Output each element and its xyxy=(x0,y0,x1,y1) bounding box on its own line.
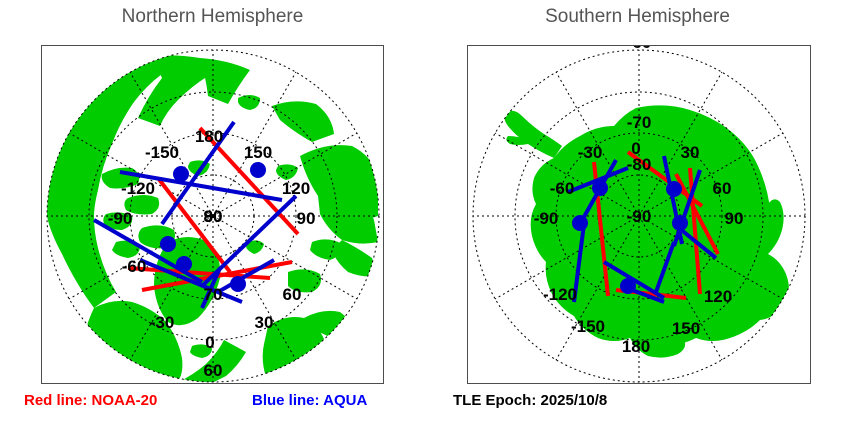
lon-label-150: 150 xyxy=(244,143,272,162)
lon-label-minus150: -150 xyxy=(145,143,179,162)
southern-hemisphere-plot: -60 -70 -80 -90 0 30 60 90 120 150 180 -… xyxy=(467,45,811,384)
satellite-marker xyxy=(572,215,588,231)
lon-label-150: 150 xyxy=(672,319,700,338)
lon-label-minus120: -120 xyxy=(121,179,155,198)
lon-label-120: 120 xyxy=(282,179,310,198)
lat-label-minus90: -90 xyxy=(627,207,652,226)
tle-epoch-label: TLE Epoch: 2025/10/8 xyxy=(453,392,607,409)
northern-hemisphere-title: Northern Hemisphere xyxy=(0,6,425,28)
lon-label-minus60: -60 xyxy=(550,179,575,198)
satellite-marker xyxy=(250,162,266,178)
northern-hemisphere-plot: 180 -150 -120 -90 -60 -30 0 30 60 90 120… xyxy=(41,45,384,384)
lon-label-minus120: -120 xyxy=(543,285,577,304)
satellite-marker xyxy=(666,181,682,197)
lon-label-180: 180 xyxy=(622,337,650,356)
panel-southern-hemisphere: Southern Hemisphere xyxy=(425,0,850,425)
lon-label-minus150: -150 xyxy=(571,317,605,336)
satellite-track-figure: Northern Hemisphere xyxy=(0,0,850,425)
satellite-marker xyxy=(672,215,688,231)
lat-label-80: 80 xyxy=(204,207,223,226)
satellite-marker xyxy=(620,278,636,294)
lat-label-minus60: -60 xyxy=(627,46,652,52)
lon-label-minus60: -60 xyxy=(122,257,147,276)
lon-label-minus90: -90 xyxy=(534,209,559,228)
lon-label-60: 60 xyxy=(713,179,732,198)
lon-label-30: 30 xyxy=(255,313,274,332)
lon-label-90: 90 xyxy=(297,209,316,228)
lat-label-60: 60 xyxy=(204,361,223,380)
lon-label-90: 90 xyxy=(725,209,744,228)
satellite-marker xyxy=(160,236,176,252)
southern-hemisphere-svg: -60 -70 -80 -90 0 30 60 90 120 150 180 -… xyxy=(468,46,810,383)
legend-noaa20: Red line: NOAA-20 xyxy=(24,392,157,409)
lon-label-0: 0 xyxy=(631,139,640,158)
lat-label-70: 70 xyxy=(204,285,223,304)
satellite-marker xyxy=(173,166,189,182)
lon-label-60: 60 xyxy=(283,285,302,304)
northern-hemisphere-svg: 180 -150 -120 -90 -60 -30 0 30 60 90 120… xyxy=(42,46,383,383)
lon-label-180: 180 xyxy=(195,127,223,146)
lat-label-minus70: -70 xyxy=(627,113,652,132)
legend-aqua: Blue line: AQUA xyxy=(252,392,367,409)
satellite-marker xyxy=(592,180,608,196)
satellite-marker xyxy=(230,276,246,292)
lon-label-minus30: -30 xyxy=(150,313,175,332)
lon-label-30: 30 xyxy=(681,143,700,162)
southern-hemisphere-title: Southern Hemisphere xyxy=(425,6,850,28)
lon-label-0: 0 xyxy=(205,333,214,352)
lon-label-minus30: -30 xyxy=(578,143,603,162)
lon-label-120: 120 xyxy=(704,287,732,306)
panel-northern-hemisphere: Northern Hemisphere xyxy=(0,0,425,425)
lon-label-minus90: -90 xyxy=(108,209,133,228)
satellite-marker xyxy=(176,256,192,272)
